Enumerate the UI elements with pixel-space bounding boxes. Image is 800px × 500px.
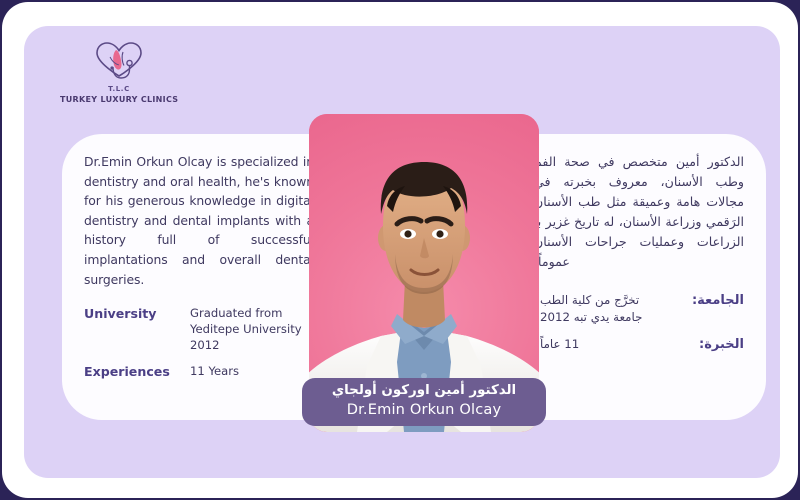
fact-value-university: Graduated from Yeditepe University 2012 [190,305,302,353]
heart-stethoscope-icon [60,40,178,84]
fact-row-university: University Graduated from Yeditepe Unive… [84,305,314,353]
fact-value-experiences-ar: 11 عاماً [534,336,670,353]
white-sheet: T.L.C TURKEY LUXURY CLINICS Dr.Emin Orku… [2,2,798,498]
fact-label-university-ar: الجامعة: [670,292,744,310]
university-ar-line-2: جامعة يدي تبه 2012 [540,309,670,326]
doctor-name-arabic: الدكتور أمين اوركون أولجاي [302,382,546,400]
screen-root: T.L.C TURKEY LUXURY CLINICS Dr.Emin Orku… [0,0,800,500]
university-ar-line-1: تخرَّج من كلية الطب [540,292,670,309]
fact-row-experiences: Experiences 11 Years [84,363,314,380]
fact-row-university-ar: الجامعة: تخرَّج من كلية الطب جامعة يدي ت… [534,292,744,326]
fact-value-university-ar: تخرَّج من كلية الطب جامعة يدي تبه 2012 [534,292,670,326]
doctor-name-banner: الدكتور أمين اوركون أولجاي Dr.Emin Orkun… [302,378,546,426]
fact-label-experiences-ar: الخبرة: [670,336,744,354]
doctor-name-english: Dr.Emin Orkun Olcay [302,400,546,420]
arabic-fact-list: الجامعة: تخرَّج من كلية الطب جامعة يدي ت… [534,292,744,354]
doctor-profile-card: T.L.C TURKEY LUXURY CLINICS Dr.Emin Orku… [24,26,780,478]
experiences-ar-line-1: 11 عاماً [540,336,670,353]
fact-label-university: University [84,305,190,322]
university-line-1: Graduated from [190,305,302,321]
arabic-bio-text: الدكتور أمين متخصص في صحة الفم وطب الأسن… [534,152,744,272]
logo-brand-name: TURKEY LUXURY CLINICS [60,96,178,104]
fact-value-experiences: 11 Years [190,363,239,379]
university-line-3: 2012 [190,337,302,353]
english-info-panel: Dr.Emin Orkun Olcay is specialized in de… [62,134,330,420]
logo-abbrev: T.L.C [60,86,178,93]
clinic-logo: T.L.C TURKEY LUXURY CLINICS [60,40,178,104]
english-bio-text: Dr.Emin Orkun Olcay is specialized in de… [84,152,314,289]
fact-row-experiences-ar: الخبرة: 11 عاماً [534,336,744,354]
fact-label-experiences: Experiences [84,363,190,380]
english-fact-list: University Graduated from Yeditepe Unive… [84,305,314,380]
university-line-2: Yeditepe University [190,321,302,337]
arabic-info-panel: الدكتور أمين متخصص في صحة الفم وطب الأسن… [518,134,766,420]
experiences-line-1: 11 Years [190,363,239,379]
